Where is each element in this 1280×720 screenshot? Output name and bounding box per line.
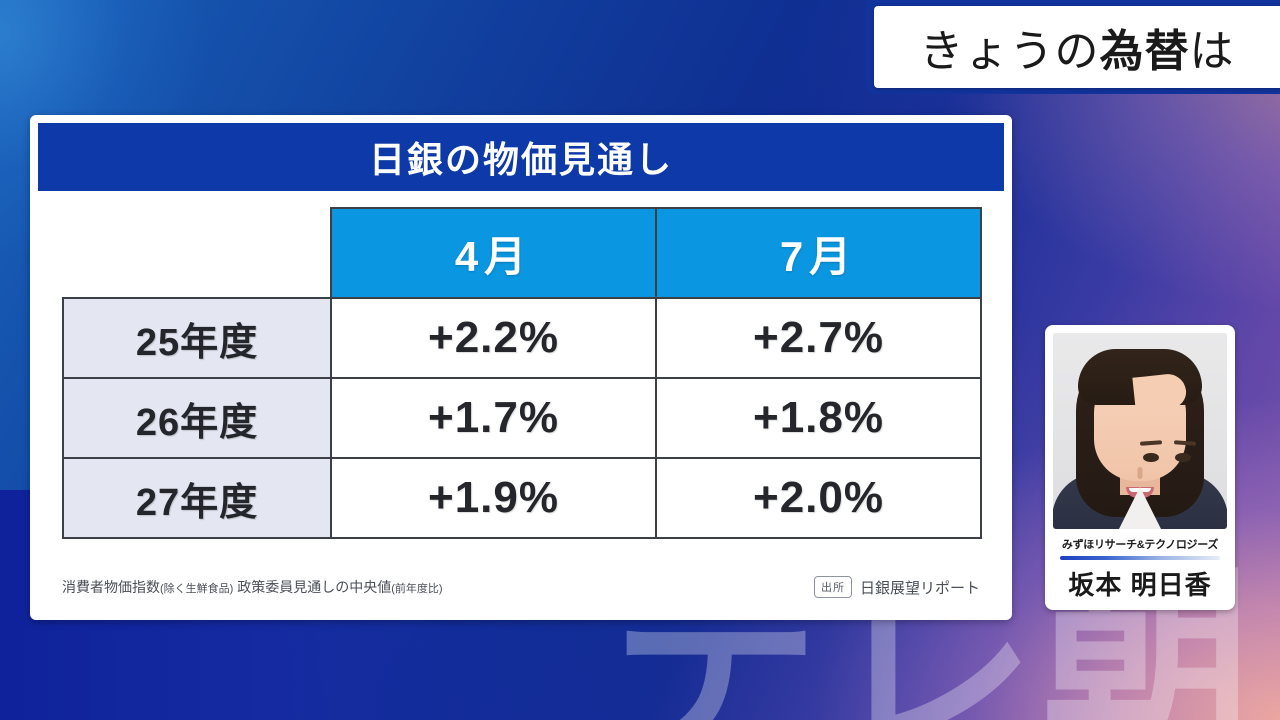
topic-banner: きょうの為替は <box>874 6 1280 88</box>
portrait-brow-right <box>1174 440 1196 446</box>
guest-divider <box>1060 556 1220 560</box>
table-header-row: 4月 7月 <box>63 208 981 298</box>
footnote-note-1: (除く生鮮食品) <box>160 583 233 595</box>
cell-fy25-april: +2.2% <box>331 298 656 378</box>
table-head: 4月 7月 <box>63 208 981 298</box>
portrait-fringe <box>1078 349 1202 405</box>
topic-banner-text: きょうの為替は <box>920 15 1235 79</box>
portrait-eye-left <box>1143 453 1159 462</box>
footnote-text: 消費者物価指数(除く生鮮食品) 政策委員見通しの中央値(前年度比) <box>62 577 443 597</box>
guest-card: みずほリサーチ&テクノロジーズ 坂本 明日香 <box>1045 325 1235 610</box>
panel-title-bar: 日銀の物価見通し <box>38 123 1004 191</box>
source-text: 日銀展望リポート <box>860 577 980 598</box>
footnote-main: 消費者物価指数 <box>62 579 160 595</box>
portrait-nose <box>1138 467 1143 479</box>
row-label-fy25: 25年度 <box>63 298 331 378</box>
column-header-july: 7月 <box>656 208 981 298</box>
table-row: 25年度 +2.2% +2.7% <box>63 298 981 378</box>
banner-prefix: きょうの <box>920 27 1100 76</box>
cell-fy27-april: +1.9% <box>331 458 656 538</box>
guest-name: 坂本 明日香 <box>1068 565 1211 602</box>
cell-fy26-april: +1.7% <box>331 378 656 458</box>
table-corner-cell <box>63 208 331 298</box>
table-body: 25年度 +2.2% +2.7% 26年度 +1.7% +1.8% 27年度 +… <box>63 298 981 538</box>
portrait-brow-left <box>1140 440 1162 446</box>
source-badge: 出所 <box>814 576 852 598</box>
guest-affiliation: みずほリサーチ&テクノロジーズ <box>1062 536 1218 552</box>
table-row: 26年度 +1.7% +1.8% <box>63 378 981 458</box>
table-row: 27年度 +1.9% +2.0% <box>63 458 981 538</box>
row-label-fy26: 26年度 <box>63 378 331 458</box>
cell-fy26-july: +1.8% <box>656 378 981 458</box>
banner-emphasis: 為替 <box>1100 27 1190 76</box>
source-group: 出所 日銀展望リポート <box>814 576 980 598</box>
guest-photo <box>1053 333 1227 529</box>
footnote-row: 消費者物価指数(除く生鮮食品) 政策委員見通しの中央値(前年度比) 出所 日銀展… <box>62 576 980 598</box>
forecast-table: 4月 7月 25年度 +2.2% +2.7% 26年度 +1.7% +1.8% … <box>62 207 982 539</box>
footnote-note-2: (前年度比) <box>391 583 442 595</box>
footnote-main-2: 政策委員見通しの中央値 <box>233 579 391 595</box>
chart-panel: 日銀の物価見通し 4月 7月 25年度 +2.2% +2.7% 26年度 +1.… <box>30 115 1012 620</box>
banner-suffix: は <box>1190 27 1235 76</box>
row-label-fy27: 27年度 <box>63 458 331 538</box>
page-title: 日銀の物価見通し <box>369 131 673 183</box>
cell-fy25-july: +2.7% <box>656 298 981 378</box>
cell-fy27-july: +2.0% <box>656 458 981 538</box>
portrait-eye-right <box>1175 453 1191 462</box>
column-header-april: 4月 <box>331 208 656 298</box>
